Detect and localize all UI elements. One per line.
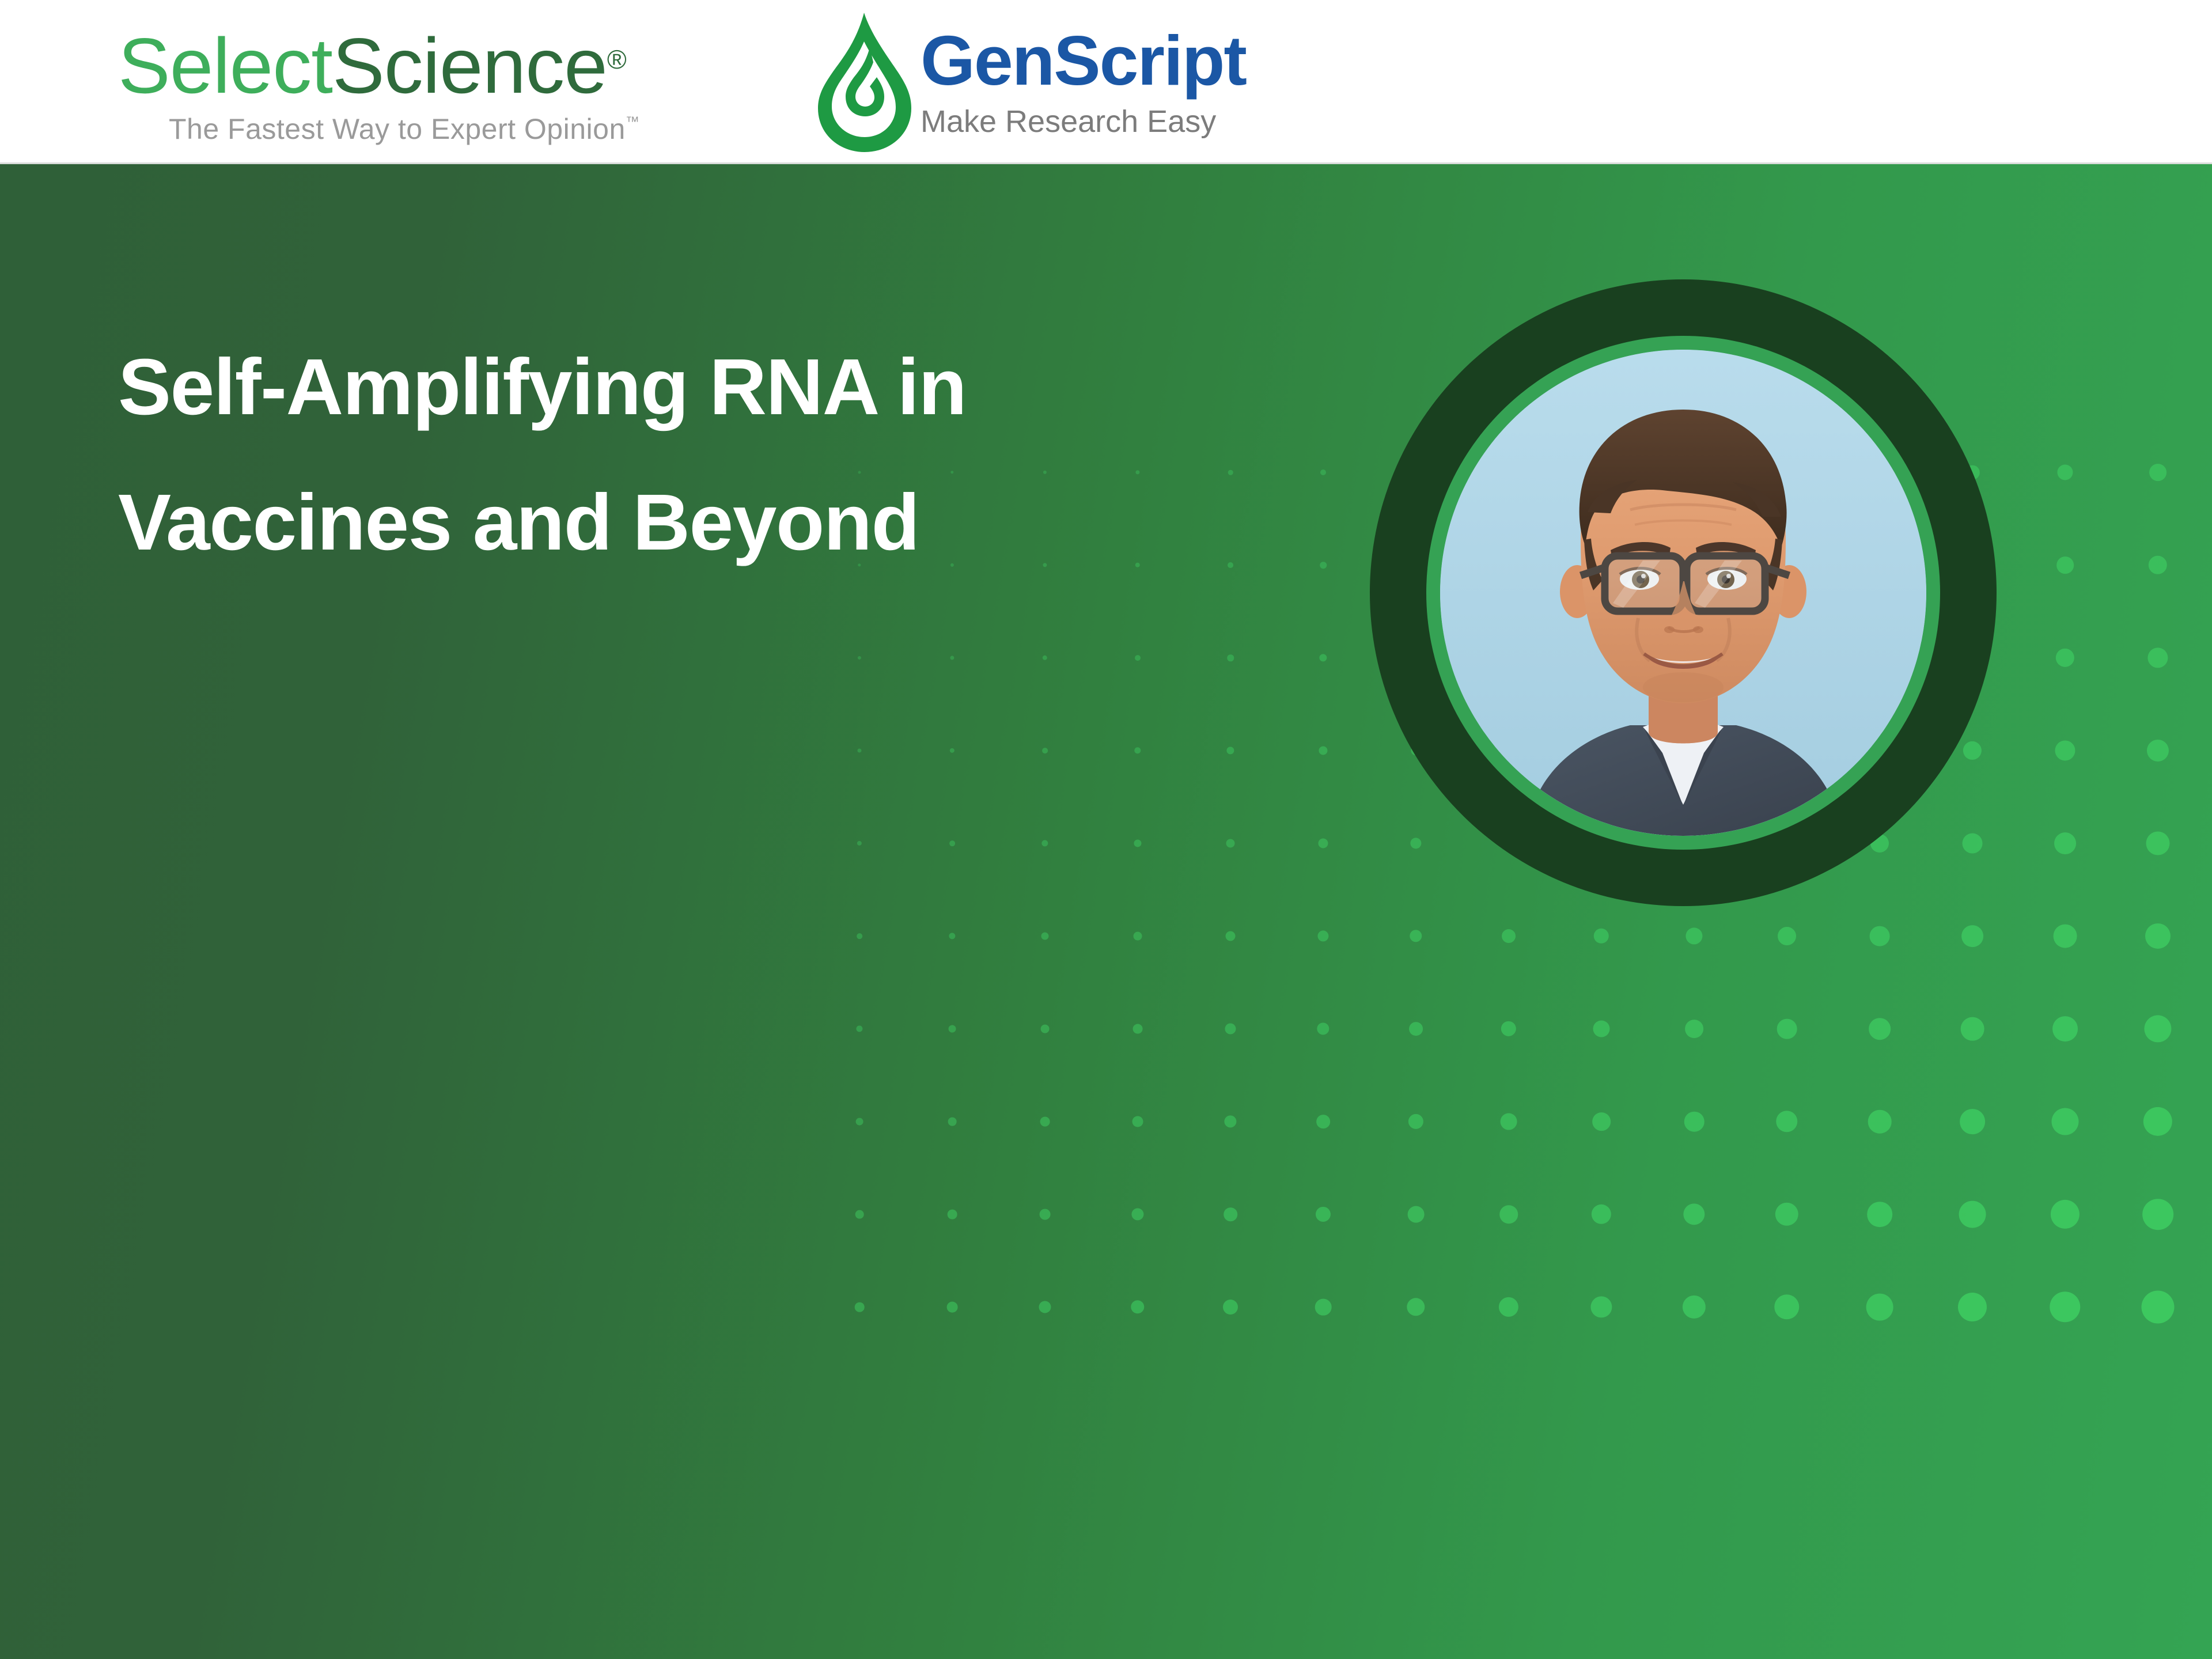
decorative-dot [1868,1110,1892,1134]
decorative-dot [949,1025,956,1033]
decorative-dot [948,1118,957,1126]
decorative-dot [1040,1117,1050,1127]
decorative-dot [855,1302,865,1312]
decorative-dot [1866,1294,1893,1321]
decorative-dot [1592,1112,1611,1131]
decorative-dot [1041,840,1048,846]
avatar-photo [1440,350,1926,836]
decorative-dot [947,1302,958,1313]
decorative-dot [1778,927,1796,945]
decorative-dot [2146,832,2170,855]
decorative-dot [2051,1200,2080,1229]
decorative-dot [1775,1203,1798,1226]
decorative-dot [1592,1205,1611,1224]
decorative-dot [1135,655,1141,661]
decorative-dot [1499,1297,1518,1317]
decorative-dot [857,933,862,939]
genscript-logo[interactable]: GenScript Make Research Easy [805,9,1255,153]
decorative-dot [1774,1294,1799,1319]
decorative-dot [1040,1209,1051,1220]
decorative-dot [1590,1296,1612,1317]
decorative-dot [949,933,955,939]
decorative-dot [1042,748,1048,753]
page-title-line-1: Self-Amplifying RNA in [118,320,1097,455]
decorative-dot [1319,746,1327,755]
decorative-dot [1407,1298,1425,1316]
selectscience-word-science: Science [332,22,607,109]
decorative-dot [1684,1112,1705,1132]
decorative-dot [2050,1291,2080,1322]
decorative-dot [1958,1293,1987,1321]
decorative-dot [2054,925,2077,948]
decorative-dot [1134,932,1142,941]
decorative-dot [1501,1021,1516,1036]
logo-header-band: SelectScience® The Fastest Way to Expert… [0,0,2212,164]
decorative-dot [1961,1017,1984,1041]
decorative-dot [855,1210,864,1219]
decorative-dot [2147,647,2168,668]
decorative-dot [1319,654,1327,661]
decorative-dot [1593,1020,1609,1037]
decorative-dot [1683,1203,1705,1225]
decorative-dot [1131,1208,1143,1220]
decorative-dot [1132,1116,1143,1127]
decorative-dot [1131,1300,1144,1313]
page-title-line-2: Vaccines and Beyond [118,455,1097,590]
decorative-dot [856,1025,862,1032]
selectscience-word-select: Select [118,22,332,109]
decorative-dot [1318,838,1328,848]
genscript-wordmark: GenScript [921,22,1255,99]
page-title: Self-Amplifying RNA in Vaccines and Beyo… [118,320,1097,590]
decorative-dot [1320,562,1327,569]
genscript-droplet-flame-icon [805,9,921,153]
genscript-text-block: GenScript Make Research Easy [921,22,1255,139]
decorative-dot [1134,747,1141,753]
decorative-dot [2142,1291,2175,1324]
decorative-dot [1041,932,1048,940]
decorative-dot [858,656,861,660]
decorative-dot [857,748,861,752]
decorative-dot [1410,930,1422,942]
decorative-dot [1226,839,1234,847]
decorative-dot [949,840,955,846]
webinar-title-slide: SelectScience® The Fastest Way to Expert… [0,0,2212,1659]
decorative-dot [1043,656,1047,660]
decorative-dot [1227,654,1234,661]
decorative-dot [1225,1023,1236,1034]
decorative-dot [1961,925,1983,947]
decorative-dot [1960,1109,1985,1134]
decorative-dot [1499,1205,1518,1224]
decorative-dot [1870,926,1890,946]
decorative-dot [948,1210,957,1219]
decorative-dot [2052,1108,2079,1135]
decorative-dot [1135,470,1139,474]
decorative-dot [1869,1018,1891,1040]
decorative-dot [1039,1301,1051,1313]
decorative-dot [1777,1019,1797,1039]
decorative-dot [1594,929,1609,944]
decorative-dot [1683,1296,1706,1319]
slide-content-area: Self-Amplifying RNA in Vaccines and Beyo… [0,164,2212,1659]
decorative-dot [1408,1206,1425,1223]
decorative-dot [1135,563,1140,567]
decorative-dot [2055,740,2075,760]
trademark-icon: ™ [626,114,640,130]
decorative-dot [2056,556,2074,574]
decorative-dot [1502,929,1516,943]
selectscience-logo[interactable]: SelectScience® The Fastest Way to Expert… [118,16,648,154]
registered-trademark-icon: ® [607,44,626,74]
decorative-dot [1409,1022,1423,1036]
decorative-dot [1867,1202,1892,1227]
decorative-dot [1685,1020,1703,1038]
selectscience-wordmark: SelectScience® [118,16,648,109]
decorative-dot [1501,1113,1517,1130]
decorative-dot [2054,832,2076,854]
decorative-dot [1226,747,1234,754]
speaker-avatar [1370,279,1997,906]
decorative-dot [1315,1299,1332,1316]
decorative-dot [1776,1111,1797,1132]
decorative-dot [1959,1201,1986,1228]
decorative-dot [950,748,955,753]
decorative-dot [2149,556,2167,574]
decorative-dot [1317,1022,1329,1035]
decorative-dot [1408,1114,1423,1129]
decorative-dot [2144,1015,2171,1042]
decorative-dot [1685,927,1702,944]
decorative-dot [1317,930,1328,941]
decorative-dot [1134,839,1141,847]
decorative-dot [2142,1199,2173,1230]
decorative-dot [2056,649,2074,667]
decorative-dot [1320,469,1326,475]
decorative-dot [950,656,954,660]
decorative-dot [2143,1107,2172,1136]
decorative-dot [1041,1025,1050,1033]
decorative-dot [1316,1115,1330,1128]
decorative-dot [2145,923,2171,949]
genscript-tagline: Make Research Easy [921,104,1255,139]
decorative-dot [1228,470,1233,475]
selectscience-tagline: The Fastest Way to Expert Opinion™ [169,112,648,146]
selectscience-tagline-text: The Fastest Way to Expert Opinion [169,113,626,145]
decorative-dot [1133,1024,1143,1034]
decorative-dot [1226,931,1236,941]
decorative-dot [1223,1300,1238,1315]
decorative-dot [2052,1016,2078,1041]
decorative-dot [1316,1207,1331,1222]
decorative-dot [856,1118,863,1126]
decorative-dot [1224,1115,1236,1127]
decorative-dot [2147,740,2169,762]
decorative-dot [2057,464,2073,480]
decorative-dot [2149,464,2166,481]
decorative-dot [857,841,862,846]
decorative-dot [1228,562,1233,568]
decorative-dot [1224,1207,1237,1221]
